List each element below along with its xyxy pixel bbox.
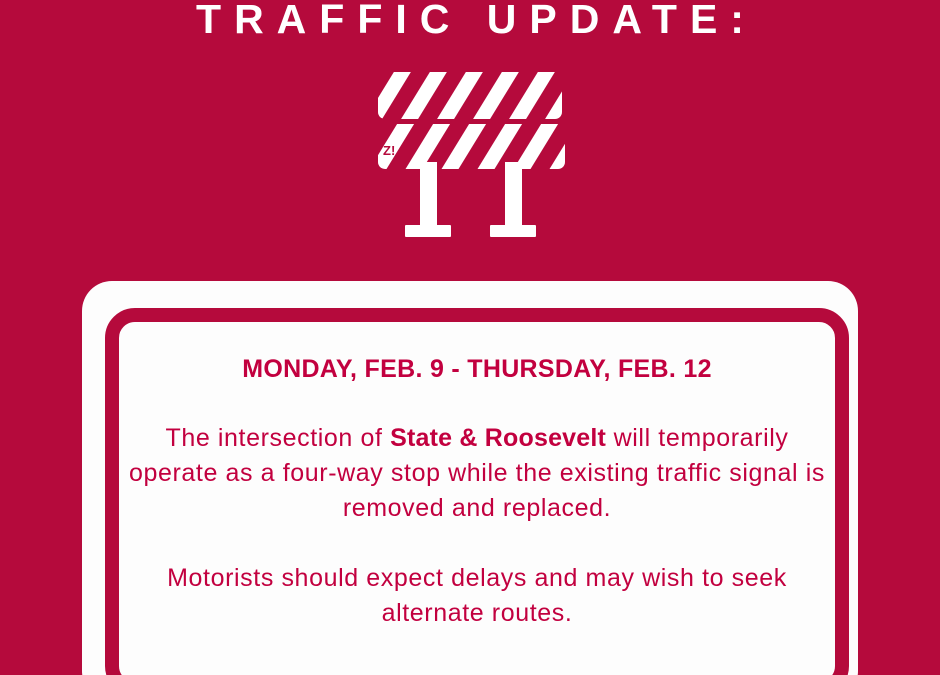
barricade-watermark-text: Z! — [383, 144, 395, 157]
notice-paragraph-text-lead: The intersection of — [165, 424, 390, 452]
notice-card-inner-border: MONDAY, FEB. 9 - THURSDAY, FEB. 12 The i… — [105, 308, 849, 675]
road-barricade-icon: Z! — [370, 62, 570, 244]
traffic-update-poster: TRAFFIC UPDATE: — [0, 0, 940, 675]
notice-card: MONDAY, FEB. 9 - THURSDAY, FEB. 12 The i… — [82, 281, 858, 675]
notice-intersection-name: State & Roosevelt — [390, 424, 606, 452]
notice-date-range-heading: MONDAY, FEB. 9 - THURSDAY, FEB. 12 — [119, 322, 835, 384]
notice-paragraph-primary: The intersection of State & Roosevelt wi… — [119, 384, 835, 526]
notice-paragraph-secondary: Motorists should expect delays and may w… — [119, 526, 835, 631]
notice-content: MONDAY, FEB. 9 - THURSDAY, FEB. 12 The i… — [119, 322, 835, 631]
page-title: TRAFFIC UPDATE: — [0, 0, 940, 42]
